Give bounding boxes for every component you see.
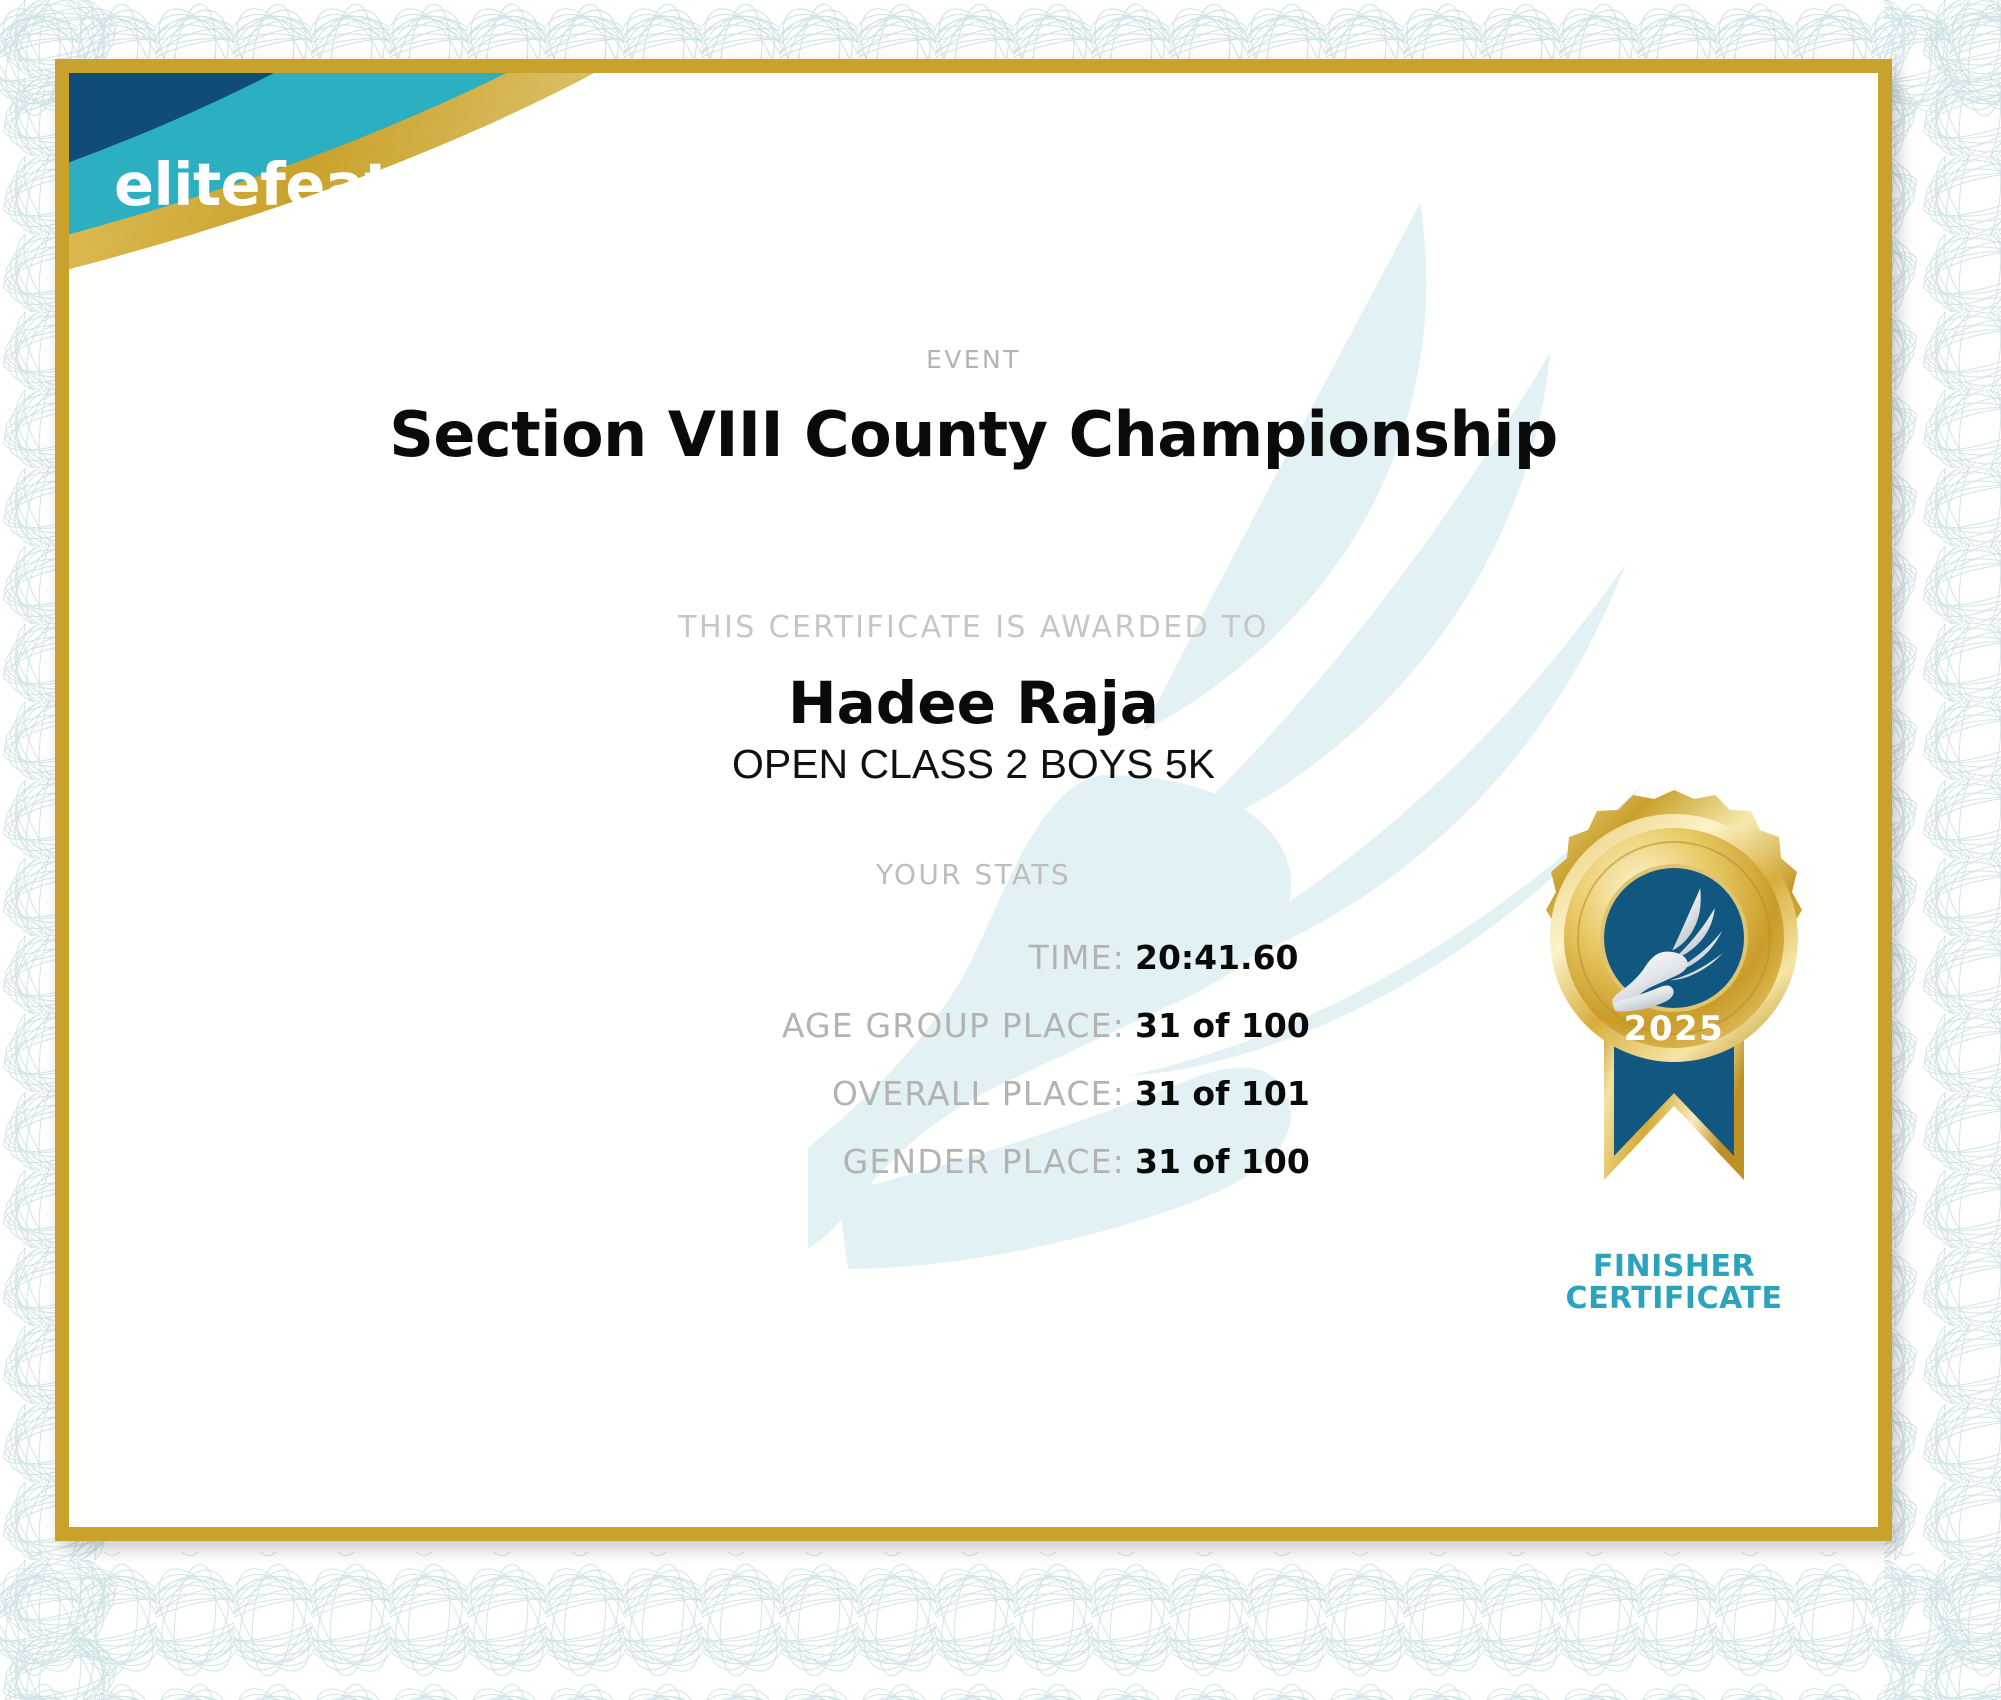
stats-list: TIME: 20:41.60 AGE GROUP PLACE: 31 of 10… <box>69 938 1325 1210</box>
certificate-page: elitefeats <box>0 0 2001 1700</box>
recipient-division: OPEN CLASS 2 BOYS 5K <box>69 741 1878 788</box>
stat-label: TIME: <box>1029 938 1125 977</box>
stat-value: 20:41.60 <box>1135 938 1325 977</box>
event-label: EVENT <box>69 345 1878 374</box>
stat-value: 31 of 100 <box>1135 1006 1325 1045</box>
stat-row-gender-place: GENDER PLACE: 31 of 100 <box>69 1142 1325 1188</box>
stat-row-time: TIME: 20:41.60 <box>69 938 1325 984</box>
stat-value: 31 of 100 <box>1135 1142 1325 1181</box>
stat-row-overall-place: OVERALL PLACE: 31 of 101 <box>69 1074 1325 1120</box>
stat-label: AGE GROUP PLACE: <box>782 1006 1125 1045</box>
logo-wordmark: elitefeats <box>114 155 427 214</box>
awarded-to-label: THIS CERTIFICATE IS AWARDED TO <box>69 610 1878 645</box>
stat-label: OVERALL PLACE: <box>832 1074 1125 1113</box>
winged-foot-icon <box>429 131 515 228</box>
stat-value: 31 of 101 <box>1135 1074 1325 1113</box>
stat-row-age-group-place: AGE GROUP PLACE: 31 of 100 <box>69 1006 1325 1052</box>
certificate-card: elitefeats <box>55 59 1892 1541</box>
recipient-name: Hadee Raja <box>69 669 1878 737</box>
seal-caption-line2: CERTIFICATE <box>1509 1283 1839 1315</box>
certificate-content: EVENT Section VIII County Championship T… <box>69 73 1878 1527</box>
gold-medal-with-ribbon-icon: 2025 <box>1509 788 1839 1238</box>
seal-year: 2025 <box>1624 1009 1725 1049</box>
event-title: Section VIII County Championship <box>69 398 1878 471</box>
seal-caption-line1: FINISHER <box>1509 1251 1839 1283</box>
finisher-seal: 2025 FINISHER CERTIFICATE <box>1509 788 1839 1316</box>
elitefeats-logo: elitefeats <box>114 131 515 214</box>
certificate-inner-surface: elitefeats <box>69 73 1878 1527</box>
seal-caption: FINISHER CERTIFICATE <box>1509 1251 1839 1316</box>
stat-label: GENDER PLACE: <box>843 1142 1125 1181</box>
